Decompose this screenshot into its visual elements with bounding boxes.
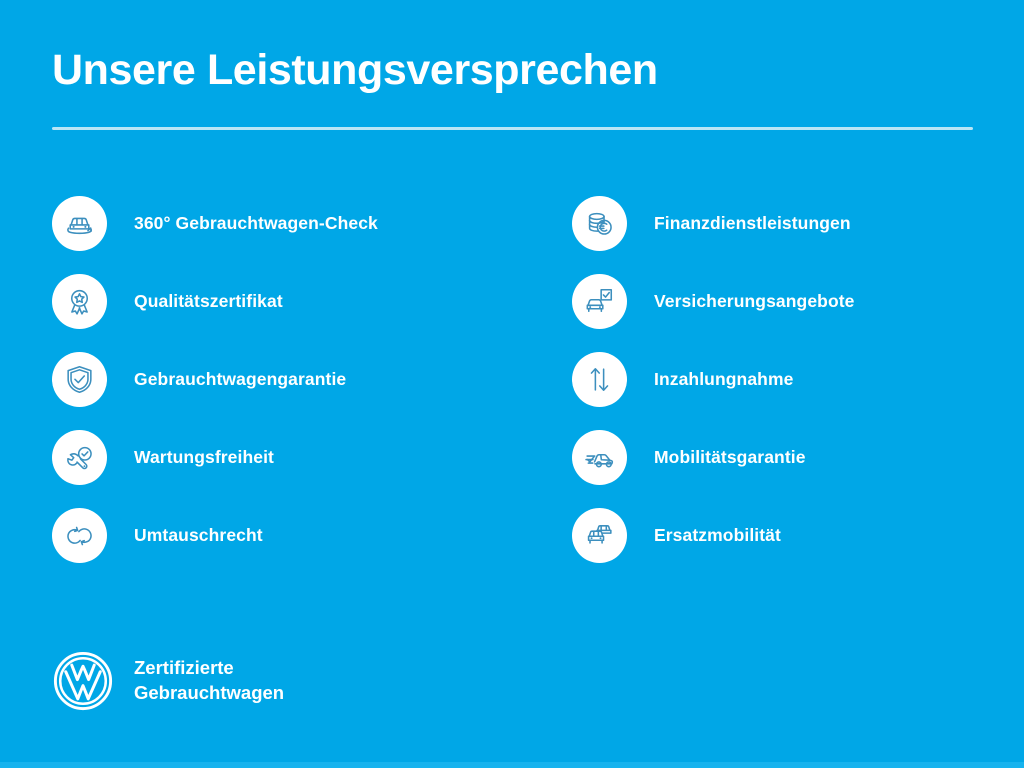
feature-item-umtauschrecht[interactable]: Umtauschrecht (52, 508, 522, 563)
up-down-arrows-icon (572, 352, 627, 407)
wrench-check-icon (52, 430, 107, 485)
feature-item-inzahlungnahme[interactable]: Inzahlungnahme (572, 352, 1002, 407)
feature-label: Mobilitätsgarantie (654, 447, 806, 468)
feature-label: Ersatzmobilität (654, 525, 781, 546)
bottom-strip (0, 762, 1024, 768)
feature-item-360-check[interactable]: 360° Gebrauchtwagen-Check (52, 196, 522, 251)
brand-line-2: Gebrauchtwagen (134, 681, 284, 706)
feature-item-finanzdienstleistungen[interactable]: Finanzdienstleistungen (572, 196, 1002, 251)
brand-line-1: Zertifizierte (134, 656, 284, 681)
header: Unsere Leistungsversprechen (52, 48, 974, 130)
feature-label: Qualitätszertifikat (134, 291, 283, 312)
feature-label: Wartungsfreiheit (134, 447, 274, 468)
feature-item-gebrauchtwagengarantie[interactable]: Gebrauchtwagengarantie (52, 352, 522, 407)
feature-label: Finanzdienstleistungen (654, 213, 851, 234)
feature-item-qualitaetszertifikat[interactable]: Qualitätszertifikat (52, 274, 522, 329)
award-ribbon-icon (52, 274, 107, 329)
shield-check-icon (52, 352, 107, 407)
car-360-check-icon (52, 196, 107, 251)
page-title: Unsere Leistungsversprechen (52, 48, 974, 93)
brand-text: Zertifizierte Gebrauchtwagen (134, 656, 284, 706)
features-grid: 360° Gebrauchtwagen-Check Qualitätszerti… (0, 196, 1024, 563)
promise-poster: Unsere Leistungsversprechen (0, 0, 1024, 768)
feature-label: Umtauschrecht (134, 525, 263, 546)
feature-label: Gebrauchtwagengarantie (134, 369, 346, 390)
coins-euro-icon (572, 196, 627, 251)
feature-item-wartungsfreiheit[interactable]: Wartungsfreiheit (52, 430, 522, 485)
feature-label: Versicherungsangebote (654, 291, 855, 312)
brand-footer: Zertifizierte Gebrauchtwagen (52, 650, 284, 712)
features-column-right: Finanzdienstleistungen Versicheru (572, 196, 1002, 563)
feature-label: 360° Gebrauchtwagen-Check (134, 213, 378, 234)
swap-arrows-icon (52, 508, 107, 563)
volkswagen-logo (52, 650, 114, 712)
features-column-left: 360° Gebrauchtwagen-Check Qualitätszerti… (52, 196, 522, 563)
title-divider (52, 127, 973, 130)
feature-item-versicherungsangebote[interactable]: Versicherungsangebote (572, 274, 1002, 329)
car-speed-icon (572, 430, 627, 485)
feature-item-mobilitaetsgarantie[interactable]: Mobilitätsgarantie (572, 430, 1002, 485)
two-cars-icon (572, 508, 627, 563)
feature-label: Inzahlungnahme (654, 369, 793, 390)
car-document-check-icon (572, 274, 627, 329)
feature-item-ersatzmobilitaet[interactable]: Ersatzmobilität (572, 508, 1002, 563)
